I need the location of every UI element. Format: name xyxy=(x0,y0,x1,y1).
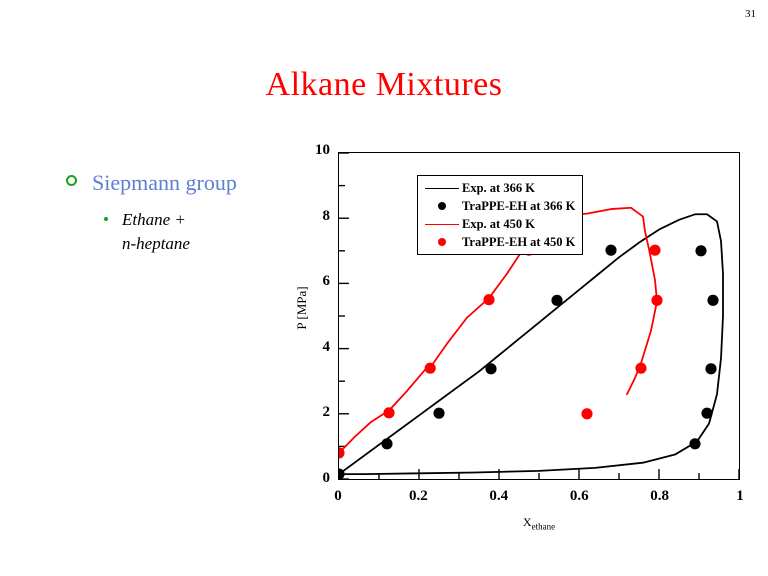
legend-label: Exp. at 366 K xyxy=(462,181,535,196)
x-axis-label-sub: ethane xyxy=(532,521,555,531)
dot-bullet-icon xyxy=(104,217,108,221)
data-point xyxy=(695,245,706,256)
ring-bullet-icon xyxy=(66,175,77,186)
data-point xyxy=(433,408,444,419)
legend-label: TraPPE-EH at 366 K xyxy=(462,199,575,214)
x-tick-label: 0.4 xyxy=(479,488,519,505)
chart: P [MPa] Exp. at 366 KTraPPE-EH at 366 KE… xyxy=(280,140,750,560)
data-point xyxy=(651,295,662,306)
data-point xyxy=(381,438,392,449)
legend-key-marker xyxy=(422,202,462,210)
data-point xyxy=(383,407,394,418)
data-point xyxy=(649,245,660,256)
bullet-level2-line2: n-heptane xyxy=(122,234,190,253)
data-point xyxy=(551,295,562,306)
bullet-list: Siepmann group Ethane + n-heptane xyxy=(62,168,277,256)
data-point xyxy=(635,363,646,374)
legend-item: TraPPE-EH at 450 K xyxy=(422,233,575,251)
x-axis-label-base: X xyxy=(523,515,532,529)
y-tick-label: 6 xyxy=(284,273,330,290)
y-tick-label: 10 xyxy=(284,142,330,159)
data-point xyxy=(689,438,700,449)
legend-line-swatch xyxy=(425,188,459,189)
y-tick-label: 8 xyxy=(284,208,330,225)
data-point xyxy=(485,363,496,374)
legend-marker-swatch xyxy=(438,238,446,246)
legend-label: TraPPE-EH at 450 K xyxy=(462,235,575,250)
legend-line-swatch xyxy=(425,224,459,225)
bullet-level1-siepmann-group: Siepmann group xyxy=(62,168,277,198)
legend-key-line xyxy=(422,188,462,189)
data-point xyxy=(581,408,592,419)
x-tick-label: 0.6 xyxy=(559,488,599,505)
legend: Exp. at 366 KTraPPE-EH at 366 KExp. at 4… xyxy=(417,175,583,255)
slide-title: Alkane Mixtures xyxy=(0,66,768,104)
legend-key-marker xyxy=(422,238,462,246)
x-tick-label: 1 xyxy=(720,488,760,505)
data-point xyxy=(701,408,712,419)
legend-item: TraPPE-EH at 366 K xyxy=(422,197,575,215)
data-point xyxy=(605,245,616,256)
data-point xyxy=(483,294,494,305)
legend-item: Exp. at 366 K xyxy=(422,179,575,197)
bullet-level2-line1: Ethane + xyxy=(122,210,186,229)
data-point xyxy=(705,363,716,374)
slide: 31 Alkane Mixtures Siepmann group Ethane… xyxy=(0,0,768,576)
x-tick-label: 0.2 xyxy=(398,488,438,505)
y-tick-label: 2 xyxy=(284,404,330,421)
legend-label: Exp. at 450 K xyxy=(462,217,535,232)
bullet-level1-label: Siepmann group xyxy=(92,170,237,195)
y-tick-label: 0 xyxy=(284,470,330,487)
bullet-level2-ethane-heptane: Ethane + n-heptane xyxy=(100,208,277,256)
page-number: 31 xyxy=(745,8,756,20)
legend-key-line xyxy=(422,224,462,225)
y-tick-label: 4 xyxy=(284,339,330,356)
x-tick-label: 0 xyxy=(318,488,358,505)
x-axis-label: Xethane xyxy=(338,515,740,531)
legend-marker-swatch xyxy=(438,202,446,210)
legend-item: Exp. at 450 K xyxy=(422,215,575,233)
data-point xyxy=(707,295,718,306)
plot-frame: Exp. at 366 KTraPPE-EH at 366 KExp. at 4… xyxy=(338,152,740,480)
data-point xyxy=(425,363,436,374)
x-tick-label: 0.8 xyxy=(640,488,680,505)
